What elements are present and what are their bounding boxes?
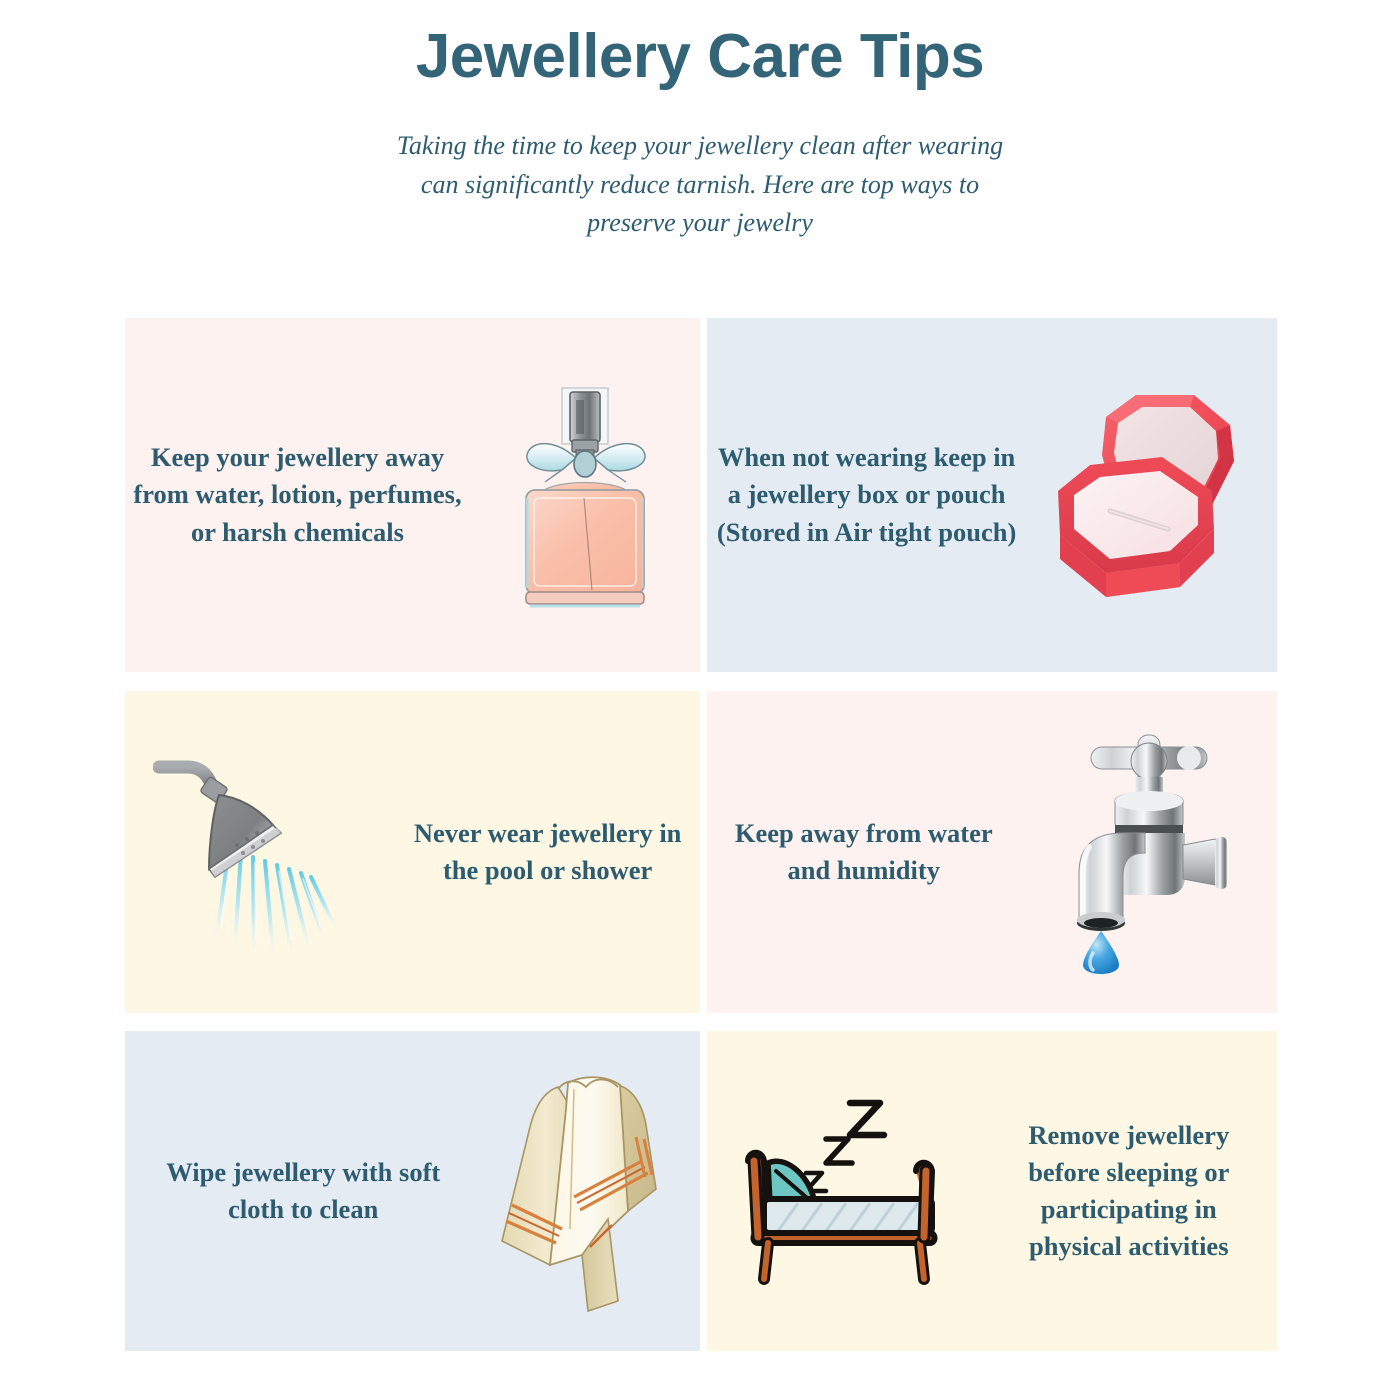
tip-card-3[interactable]: Never wear jewellery in the pool or show… xyxy=(125,673,701,1013)
perfume-bottle-icon xyxy=(500,378,670,613)
tip-card-2[interactable]: When not wearing keep in a jewellery box… xyxy=(701,318,1277,673)
page-title: Jewellery Care Tips xyxy=(0,22,1400,91)
polishing-cloth-icon xyxy=(496,1069,686,1314)
infographic-page: Jewellery Care Tips Taking the time to k… xyxy=(0,0,1400,1400)
tip-card-4-text: Keep away from water and humidity xyxy=(734,815,994,889)
header: Jewellery Care Tips Taking the time to k… xyxy=(0,0,1400,243)
tip-card-6-text: Remove jewellery before sleeping or part… xyxy=(999,1117,1259,1265)
tip-card-3-text: Never wear jewellery in the pool or show… xyxy=(403,815,693,889)
tip-card-2-text: When not wearing keep in a jewellery box… xyxy=(712,439,1022,550)
tip-card-4[interactable]: Keep away from water and humidity xyxy=(701,673,1277,1013)
ring-box-icon xyxy=(1044,383,1259,608)
bed-sleeping-icon xyxy=(734,1091,954,1291)
tip-card-1-text: Keep your jewellery away from water, lot… xyxy=(128,439,468,550)
tip-card-5-text: Wipe jewellery with soft cloth to clean xyxy=(158,1154,448,1228)
page-subtitle: Taking the time to keep your jewellery c… xyxy=(380,127,1020,242)
tip-card-5[interactable]: Wipe jewellery with soft cloth to clean xyxy=(125,1013,701,1351)
tip-card-6[interactable]: Remove jewellery before sleeping or part… xyxy=(701,1013,1277,1351)
tips-grid: Keep your jewellery away from water, lot… xyxy=(125,318,1277,1351)
shower-head-icon xyxy=(153,737,368,967)
tip-card-1[interactable]: Keep your jewellery away from water, lot… xyxy=(125,318,701,673)
faucet-drip-icon xyxy=(1049,727,1249,977)
